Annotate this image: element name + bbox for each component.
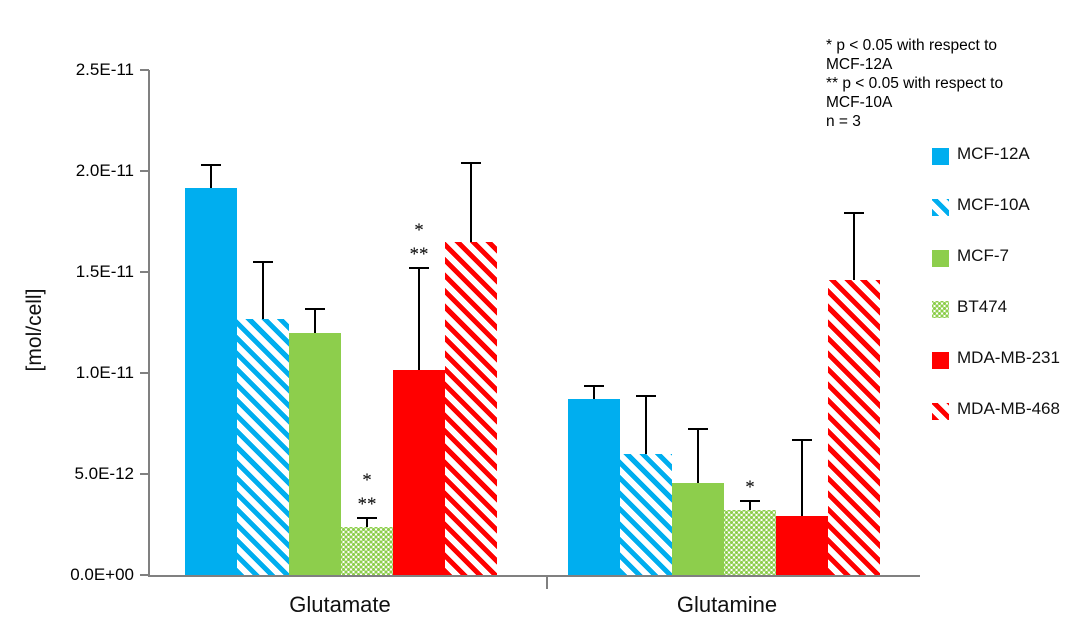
significance-marker: ** (347, 495, 387, 514)
bar-chart: [mol/cell] 0.0E+005.0E-121.0E-111.5E-112… (0, 0, 1077, 631)
bar[interactable] (724, 510, 776, 575)
group-label-glutamate: Glutamate (220, 592, 460, 618)
y-axis-title: [mol/cell] (23, 245, 47, 415)
legend-swatch-icon (932, 352, 949, 369)
bar[interactable] (393, 370, 445, 575)
y-axis-tick-label: 2.5E-11 (48, 61, 134, 78)
legend-item[interactable]: BT474 (932, 293, 1077, 344)
error-bar-cap (844, 212, 864, 214)
error-bar-stem (801, 439, 803, 516)
error-bar-stem (853, 212, 855, 281)
annotation-line-3: ** p < 0.05 with respect to (826, 74, 1076, 93)
error-bar-cap (584, 385, 604, 387)
error-bar-cap (636, 395, 656, 397)
bar[interactable] (341, 527, 393, 575)
annotation-line-1: * p < 0.05 with respect to (826, 36, 1076, 55)
error-bar-stem (697, 428, 699, 483)
error-bar-stem (470, 162, 472, 243)
error-bar-cap (461, 162, 481, 164)
legend-item-label: MDA-MB-468 (957, 399, 1060, 419)
significance-marker: * (399, 221, 439, 240)
y-axis-tick-label: 1.0E-11 (48, 364, 134, 381)
bar[interactable] (289, 333, 341, 575)
error-bar-cap (688, 428, 708, 430)
error-bar-cap (357, 517, 377, 519)
error-bar-cap (201, 164, 221, 166)
x-axis-group-separator (546, 577, 548, 589)
error-bar-stem (593, 385, 595, 399)
x-axis-line (148, 575, 920, 577)
error-bar-stem (314, 308, 316, 332)
error-bar-cap (409, 267, 429, 269)
legend-swatch-icon (932, 250, 949, 267)
y-axis-tick-label: 1.5E-11 (48, 263, 134, 280)
y-axis-tick-label: 5.0E-12 (48, 465, 134, 482)
legend-item[interactable]: MDA-MB-231 (932, 344, 1077, 395)
legend-item-label: MCF-7 (957, 246, 1009, 266)
annotation-line-5: n = 3 (826, 112, 1076, 131)
y-axis-tick-label: 0.0E+00 (48, 566, 134, 583)
legend-swatch-icon (932, 301, 949, 318)
legend-swatch-icon (932, 148, 949, 165)
bar[interactable] (445, 242, 497, 575)
annotation-line-2: MCF-12A (826, 55, 1076, 74)
error-bar-stem (210, 164, 212, 188)
y-axis-tick-label: 2.0E-11 (48, 162, 134, 179)
error-bar-stem (418, 267, 420, 370)
significance-marker: ** (399, 245, 439, 264)
plot-area: ******* (148, 70, 920, 575)
legend-item[interactable]: MDA-MB-468 (932, 395, 1077, 446)
legend: MCF-12AMCF-10AMCF-7BT474MDA-MB-231MDA-MB… (932, 140, 1077, 446)
group-label-glutamine: Glutamine (607, 592, 847, 618)
bar[interactable] (828, 280, 880, 575)
legend-item[interactable]: MCF-10A (932, 191, 1077, 242)
legend-swatch-icon (932, 403, 949, 420)
legend-item-label: MDA-MB-231 (957, 348, 1060, 368)
legend-item-label: MCF-10A (957, 195, 1030, 215)
error-bar-cap (740, 500, 760, 502)
bar[interactable] (237, 319, 289, 575)
legend-item[interactable]: MCF-12A (932, 140, 1077, 191)
significance-annotation: * p < 0.05 with respect to MCF-12A ** p … (826, 36, 1076, 131)
error-bar-cap (792, 439, 812, 441)
legend-item[interactable]: MCF-7 (932, 242, 1077, 293)
error-bar-stem (645, 395, 647, 454)
bar[interactable] (620, 454, 672, 575)
legend-item-label: MCF-12A (957, 144, 1030, 164)
bar[interactable] (672, 483, 724, 575)
error-bar-stem (262, 261, 264, 320)
legend-item-label: BT474 (957, 297, 1007, 317)
annotation-line-4: MCF-10A (826, 93, 1076, 112)
bar[interactable] (568, 399, 620, 575)
significance-marker: * (347, 471, 387, 490)
bar[interactable] (776, 516, 828, 575)
significance-marker: * (730, 478, 770, 497)
error-bar-cap (305, 308, 325, 310)
legend-swatch-icon (932, 199, 949, 216)
bar[interactable] (185, 188, 237, 575)
error-bar-cap (253, 261, 273, 263)
